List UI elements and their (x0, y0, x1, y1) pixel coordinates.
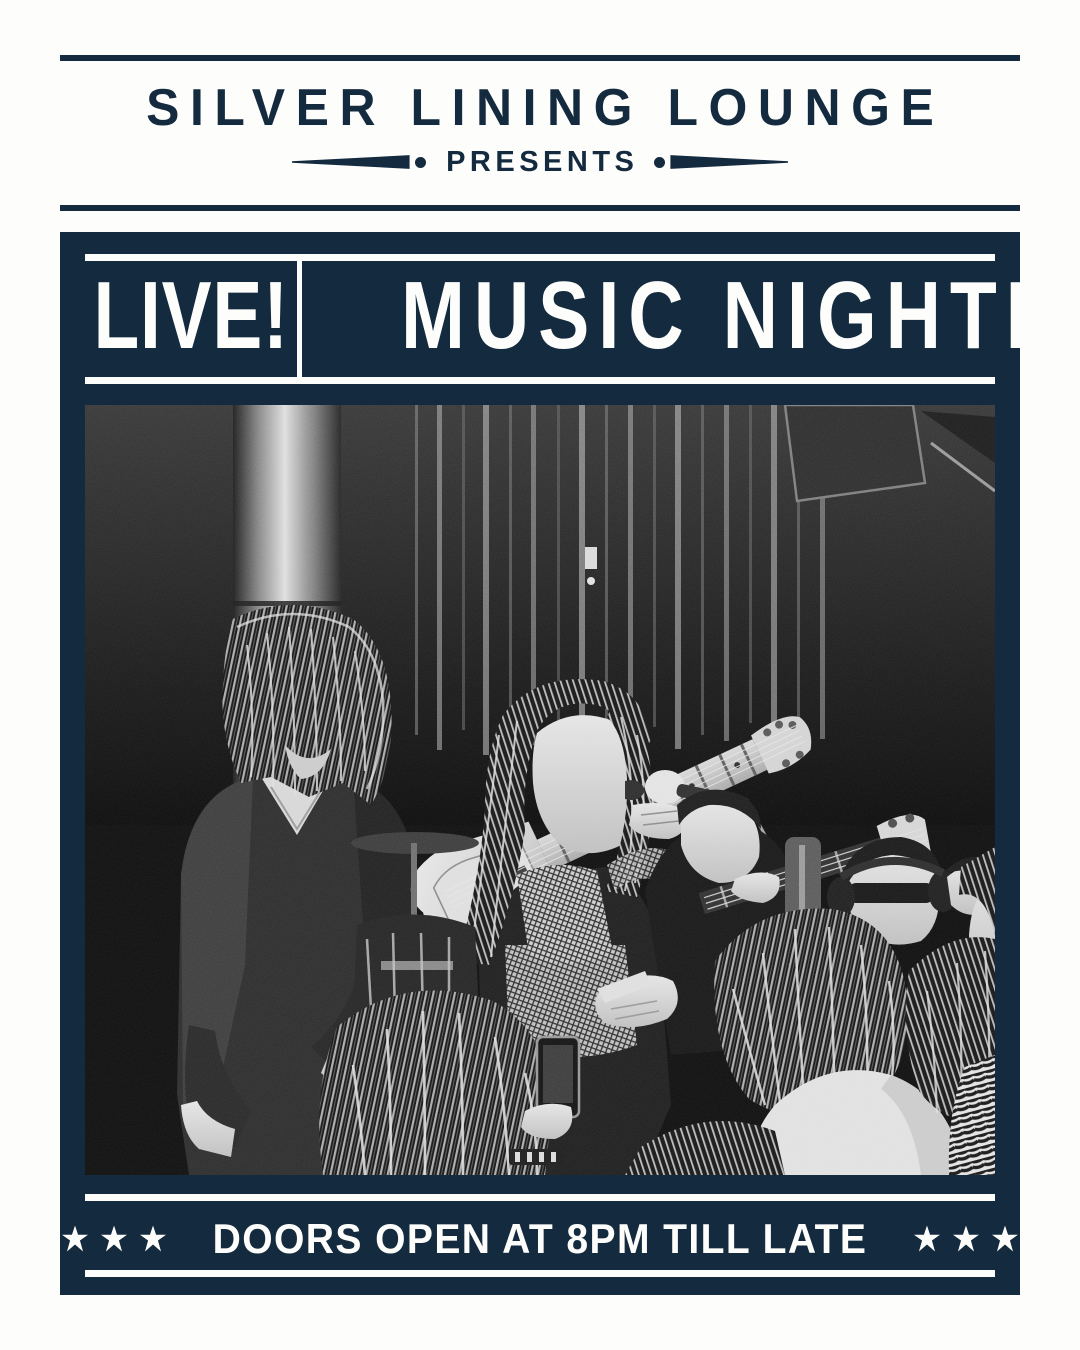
star-icon (914, 1226, 940, 1252)
banner-rule-bottom (85, 377, 995, 384)
star-icon (953, 1226, 979, 1252)
footer-bar: DOORS OPEN AT 8PM TILL LATE (85, 1207, 995, 1270)
stars-left (62, 1226, 166, 1252)
stars-right (914, 1226, 1018, 1252)
banner-rule-top (85, 254, 995, 261)
star-icon (101, 1226, 127, 1252)
presents-label: PRESENTS (442, 148, 639, 177)
star-icon (62, 1226, 88, 1252)
headline-cell: MUSIC NIGHTLY (302, 261, 1080, 377)
headline-text: MUSIC NIGHTLY (392, 268, 1080, 364)
band-photo-artwork (85, 405, 995, 1175)
footer-rule-bottom (85, 1270, 995, 1277)
footer-rule-top (85, 1194, 995, 1201)
doors-open-text: DOORS OPEN AT 8PM TILL LATE (213, 1218, 868, 1260)
star-icon (140, 1226, 166, 1252)
headline-banner: LIVE! MUSIC NIGHTLY (85, 261, 995, 377)
star-icon (992, 1226, 1018, 1252)
navy-panel: LIVE! MUSIC NIGHTLY (60, 232, 1020, 1295)
header-rule-bottom (60, 205, 1020, 211)
live-cell: LIVE! (85, 261, 297, 377)
ornament-left-icon (292, 153, 426, 171)
ornament-right-icon (654, 153, 788, 171)
header-rule-top (60, 55, 1020, 61)
band-photo (85, 405, 995, 1175)
presents-row: PRESENTS (60, 140, 1020, 184)
venue-name: SILVER LINING LOUNGE (79, 82, 1001, 134)
poster: SILVER LINING LOUNGE PRESENTS LIVE! MUSI… (0, 0, 1080, 1350)
live-label: LIVE! (93, 268, 288, 364)
